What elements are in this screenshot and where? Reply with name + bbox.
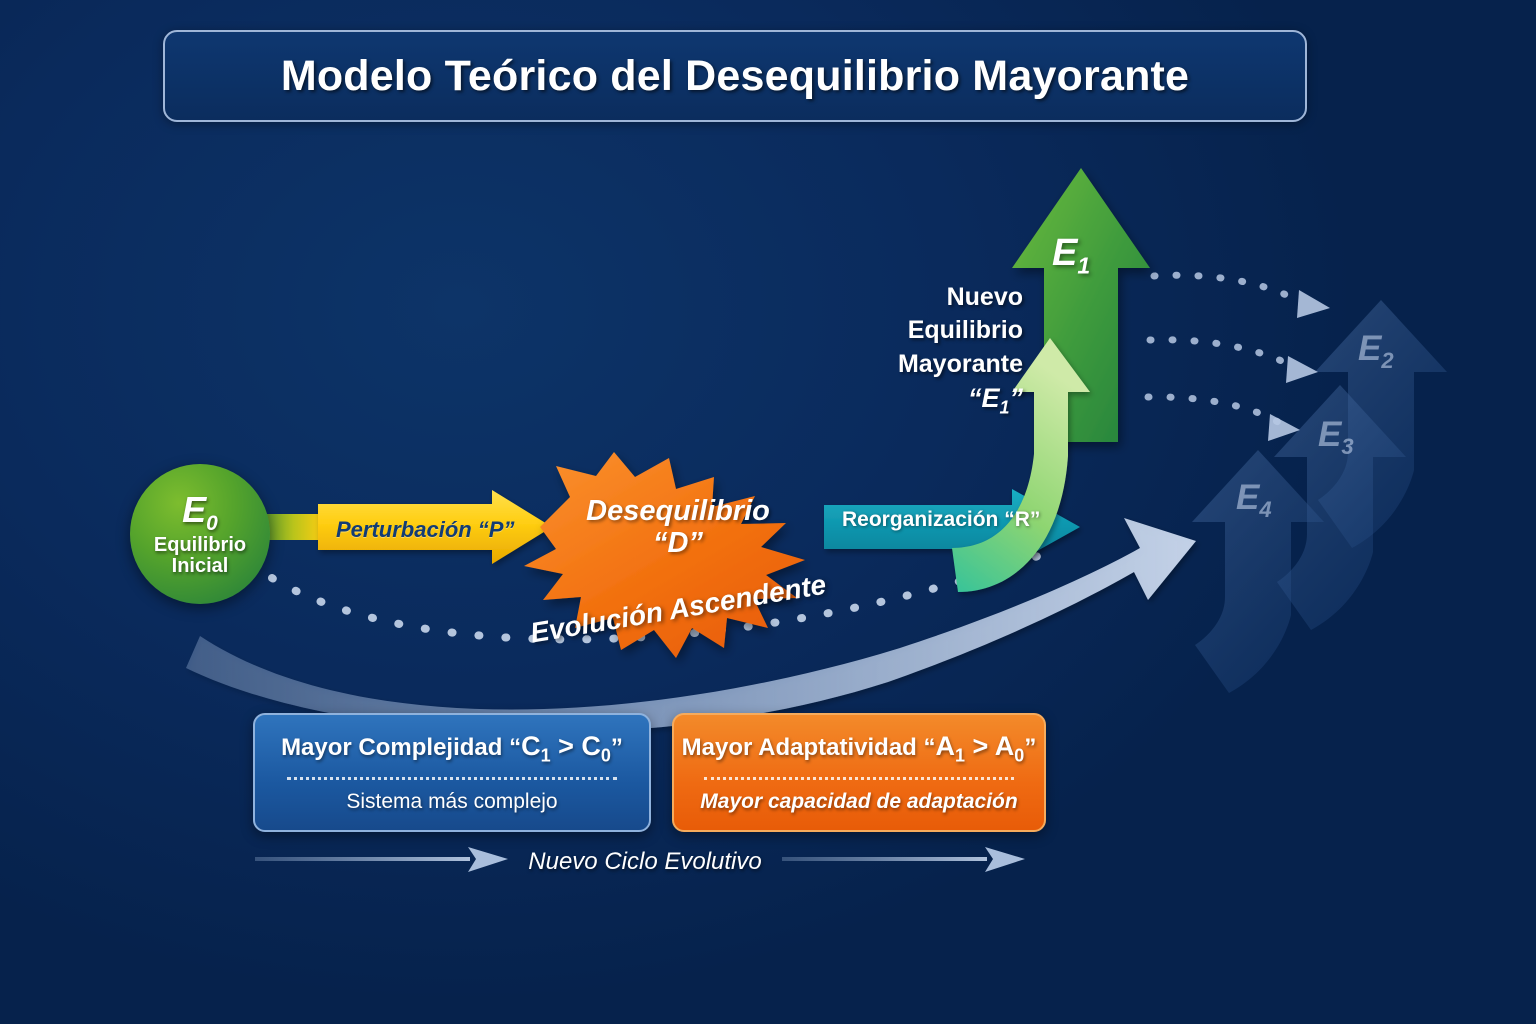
ghost-label-e2: E2 [1358, 329, 1394, 374]
a-operator: > [965, 731, 995, 761]
reorganization-label: Reorganización “R” [842, 508, 1040, 532]
cycle-arrow-left [255, 847, 508, 872]
cycle-label: Nuevo Ciclo Evolutivo [520, 848, 770, 876]
card-adaptivity-suffix: ” [1024, 734, 1036, 761]
card-complexity-subtitle: Sistema más complejo [346, 790, 557, 814]
e0-symbol: E0 [182, 492, 218, 535]
ghost-e3-sub: 3 [1341, 434, 1353, 459]
e0-symbol-sub: 0 [206, 512, 218, 535]
card-adaptivity[interactable]: Mayor Adaptatividad “A1 > A0” Mayor capa… [672, 713, 1046, 832]
c-operator: > [551, 731, 582, 761]
ghost-e4-letter: E [1236, 478, 1259, 517]
card-adaptivity-formula: A1 > A0 [936, 731, 1025, 761]
new-equilibrium-line2: Equilibrio [868, 314, 1023, 347]
new-equilibrium-line1: Nuevo [868, 281, 1023, 314]
c0-sub: 0 [601, 745, 611, 765]
c1-letter: C [521, 731, 541, 761]
e1-symbol-letter: E [1052, 232, 1077, 274]
new-equilibrium-symbol: “E [968, 383, 1000, 413]
card-adaptivity-title: Mayor Adaptatividad “A1 > A0” [682, 731, 1037, 766]
a0-sub: 0 [1014, 745, 1024, 765]
ghost-e3-letter: E [1318, 415, 1341, 454]
e0-line1: Equilibrio [154, 535, 246, 555]
node-initial-equilibrium[interactable]: E0 Equilibrio Inicial [130, 464, 270, 604]
e1-symbol-sub: 1 [1077, 253, 1090, 279]
card-complexity[interactable]: Mayor Complejidad “C1 > C0” Sistema más … [253, 713, 651, 832]
new-equilibrium-line4: “E1” [868, 381, 1023, 420]
new-equilibrium-label: Nuevo Equilibrio Mayorante “E1” [868, 281, 1023, 420]
e0-line2: Inicial [172, 556, 229, 576]
cycle-arrow-right [782, 847, 1025, 872]
page-title-box: Modelo Teórico del Desequilibrio Mayoran… [163, 30, 1307, 122]
a0-letter: A [995, 731, 1015, 761]
c0-letter: C [581, 731, 601, 761]
new-equilibrium-line3: Mayorante [868, 348, 1023, 381]
e1-symbol: E1 [1052, 232, 1090, 280]
card-adaptivity-prefix: Mayor Adaptatividad “ [682, 734, 936, 761]
new-equilibrium-arrow [1012, 168, 1150, 442]
dotted-connector-1 [1154, 275, 1330, 318]
perturbation-label: Perturbación “P” [336, 517, 514, 543]
diagram-canvas: Modelo Teórico del Desequilibrio Mayoran… [0, 0, 1536, 1024]
new-equilibrium-tail: ” [1010, 383, 1024, 413]
card-complexity-formula: C1 > C0 [521, 731, 611, 761]
card-adaptivity-subtitle: Mayor capacidad de adaptación [700, 790, 1017, 814]
ghost-label-e4: E4 [1236, 478, 1272, 523]
disequilibrium-label: Desequilibrio “D” [558, 495, 798, 560]
e0-symbol-letter: E [182, 489, 206, 530]
card-complexity-prefix: Mayor Complejidad “ [281, 734, 521, 761]
ghost-label-e3: E3 [1318, 415, 1354, 460]
dotted-connector-3 [1148, 397, 1300, 441]
disequilibrium-line2: “D” [558, 527, 798, 559]
a1-sub: 1 [955, 745, 965, 765]
a1-letter: A [936, 731, 956, 761]
dotted-connector-2 [1150, 340, 1318, 383]
card-adaptivity-divider [704, 777, 1015, 780]
page-title: Modelo Teórico del Desequilibrio Mayoran… [281, 52, 1189, 101]
ghost-e2-sub: 2 [1381, 348, 1393, 373]
new-equilibrium-sub: 1 [999, 397, 1009, 417]
c1-sub: 1 [541, 745, 551, 765]
card-complexity-suffix: ” [611, 734, 623, 761]
ghost-e4-sub: 4 [1259, 497, 1271, 522]
disequilibrium-line1: Desequilibrio [558, 495, 798, 527]
card-complexity-title: Mayor Complejidad “C1 > C0” [281, 731, 623, 766]
ghost-e2-letter: E [1358, 329, 1381, 368]
card-complexity-divider [287, 777, 618, 780]
